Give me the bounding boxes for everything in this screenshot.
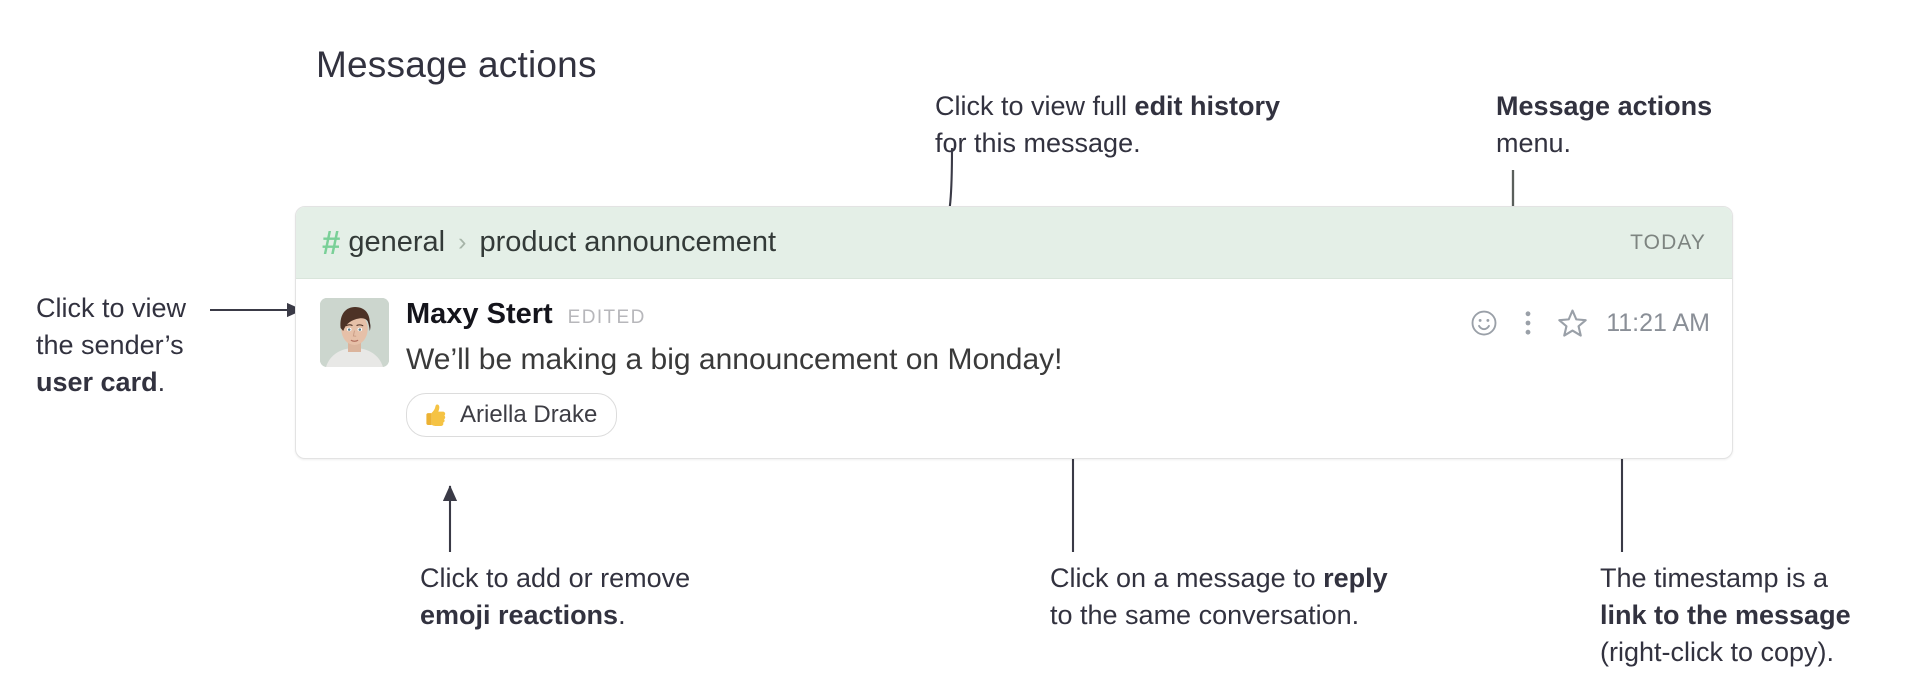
message-timestamp-link[interactable]: 11:21 AM xyxy=(1606,309,1710,338)
annotation-timestamp: The timestamp is alink to the message(ri… xyxy=(1600,560,1851,671)
annotation-emoji-reactions-emphasis: emoji reactions xyxy=(420,600,618,630)
star-message-icon[interactable] xyxy=(1550,301,1594,345)
sender-name[interactable]: Maxy Stert xyxy=(406,298,553,331)
hash-icon: # xyxy=(322,226,340,259)
add-reaction-icon[interactable] xyxy=(1462,301,1506,345)
avatar[interactable] xyxy=(320,298,389,367)
chevron-right-icon: › xyxy=(458,230,466,255)
page-root: Message actions Click to view full edit … xyxy=(0,0,1924,696)
card-header: # general › product announcement TODAY xyxy=(296,207,1732,279)
edited-badge[interactable]: EDITED xyxy=(568,307,646,329)
annotation-timestamp-emphasis: link to the message xyxy=(1600,600,1851,630)
annotation-edit-history-emphasis: edit history xyxy=(1135,91,1281,121)
annotation-reply: Click on a message to replyto the same c… xyxy=(1050,560,1388,634)
message-actions-cluster: 11:21 AM xyxy=(1462,301,1710,345)
thumbs-up-icon xyxy=(420,401,448,429)
message-card: # general › product announcement TODAY xyxy=(295,206,1733,459)
breadcrumb-topic[interactable]: product announcement xyxy=(479,226,776,259)
annotation-user-card-emphasis: user card xyxy=(36,367,158,397)
annotation-user-card: Click to viewthe sender’suser card. xyxy=(36,290,186,401)
annotation-emoji-reactions: Click to add or removeemoji reactions. xyxy=(420,560,690,634)
message-body[interactable]: We’ll be making a big announcement on Mo… xyxy=(406,341,1708,379)
annotation-actions-menu-emphasis: Message actions xyxy=(1496,91,1712,121)
reaction-user-name: Ariella Drake xyxy=(460,401,597,429)
annotation-reply-emphasis: reply xyxy=(1323,563,1388,593)
reaction-chip[interactable]: Ariella Drake xyxy=(406,393,617,437)
annotation-edit-history: Click to view full edit historyfor this … xyxy=(935,88,1280,162)
page-title: Message actions xyxy=(316,44,597,86)
reaction-row: Ariella Drake xyxy=(406,393,1708,437)
message-actions-menu-icon[interactable] xyxy=(1506,301,1550,345)
annotation-actions-menu: Message actionsmenu. xyxy=(1496,88,1712,162)
date-label: TODAY xyxy=(1630,231,1706,255)
breadcrumb-stream[interactable]: general xyxy=(348,226,445,259)
